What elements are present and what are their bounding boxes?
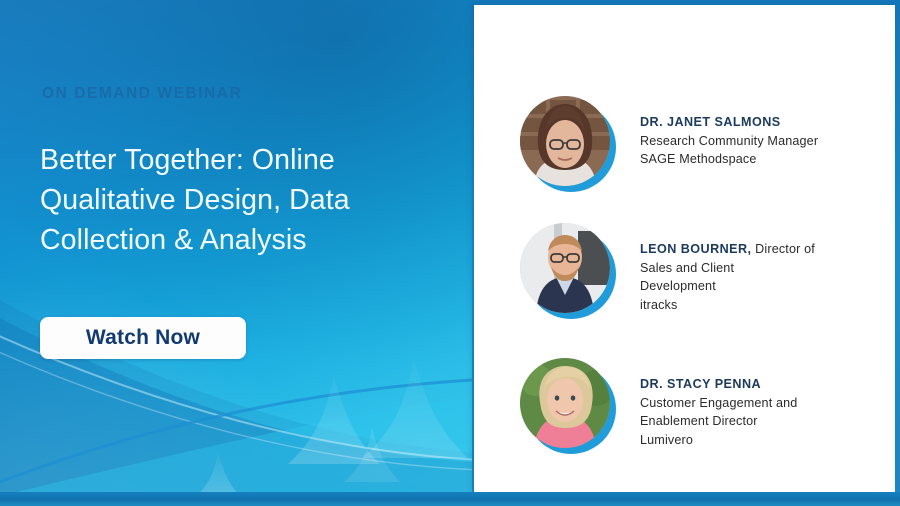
speakers-panel: DR. JANET SALMONS Research Community Man… (474, 5, 895, 492)
speaker-name: LEON BOURNER, Director of (640, 240, 815, 259)
avatar (520, 96, 616, 192)
speaker-role-line: Sales and Client (640, 259, 815, 278)
bottom-accent-strip (0, 492, 900, 506)
speaker-name: DR. STACY PENNA (640, 375, 797, 394)
avatar (520, 223, 616, 319)
portrait-icon (520, 223, 610, 313)
speaker-details: LEON BOURNER, Director of Sales and Clie… (640, 223, 815, 314)
speaker-org-line: Lumivero (640, 431, 797, 450)
speaker-role-line: Research Community Manager (640, 132, 818, 151)
speaker-org-line: itracks (640, 296, 815, 315)
speaker-card: DR. STACY PENNA Customer Engagement and … (520, 358, 797, 454)
left-hero-panel: ON DEMAND WEBINAR Better Together: Onlin… (0, 0, 472, 506)
speaker-name: DR. JANET SALMONS (640, 113, 818, 132)
webinar-promo-banner: ON DEMAND WEBINAR Better Together: Onlin… (0, 0, 900, 506)
speaker-org-line: SAGE Methodspace (640, 150, 818, 169)
portrait-icon (520, 358, 610, 448)
watch-now-button[interactable]: Watch Now (40, 317, 246, 359)
page-title: Better Together: Online Qualitative Desi… (40, 140, 440, 260)
speaker-role-line: Development (640, 277, 815, 296)
speaker-card: LEON BOURNER, Director of Sales and Clie… (520, 223, 815, 319)
speaker-details: DR. JANET SALMONS Research Community Man… (640, 96, 818, 169)
portrait-icon (520, 96, 610, 186)
speaker-details: DR. STACY PENNA Customer Engagement and … (640, 358, 797, 449)
eyebrow-label: ON DEMAND WEBINAR (42, 85, 242, 103)
speaker-role-line: Customer Engagement and (640, 394, 797, 413)
avatar (520, 358, 616, 454)
speaker-role-line: Enablement Director (640, 412, 797, 431)
speaker-card: DR. JANET SALMONS Research Community Man… (520, 96, 818, 192)
